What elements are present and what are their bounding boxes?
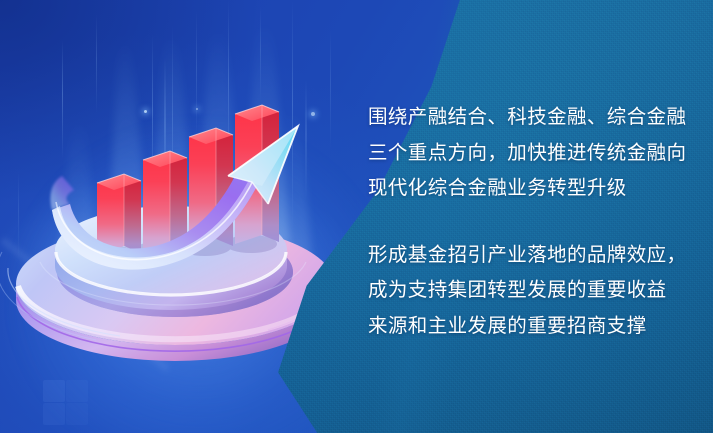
growth-arrow [50,126,298,270]
background-diagonal-ray [0,236,171,372]
particle-dot [311,112,315,116]
paragraph-one-line-1: 围绕产融结合、科技金融、综合金融 [368,100,678,136]
particle-dot [196,108,198,110]
paragraph-two-line-1: 形成基金招引产业落地的品牌效应， [368,238,678,274]
copy-block: 围绕产融结合、科技金融、综合金融 三个重点方向，加快推进传统金融向 现代化综合金… [368,100,678,344]
poster-canvas: 围绕产融结合、科技金融、综合金融 三个重点方向，加快推进传统金融向 现代化综合金… [0,0,713,433]
bar-2 [143,151,187,252]
paragraph-one-line-2: 三个重点方向，加快推进传统金融向 [368,136,678,172]
paragraph-two-line-3: 来源和主业发展的重要招商支撑 [368,309,678,345]
paragraph-two: 形成基金招引产业落地的品牌效应， 成为支持集团转型发展的重要收益 来源和主业发展… [368,238,678,345]
paragraph-two-line-2: 成为支持集团转型发展的重要收益 [368,273,678,309]
bar-4 [235,105,279,244]
paragraph-one: 围绕产融结合、科技金融、综合金融 三个重点方向，加快推进传统金融向 现代化综合金… [368,100,678,207]
paragraph-one-line-3: 现代化综合金融业务转型升级 [368,171,678,207]
particle-dot [144,110,147,113]
bar-3 [189,128,233,248]
background-corner-vignette [0,0,260,200]
bar-1 [97,174,141,255]
